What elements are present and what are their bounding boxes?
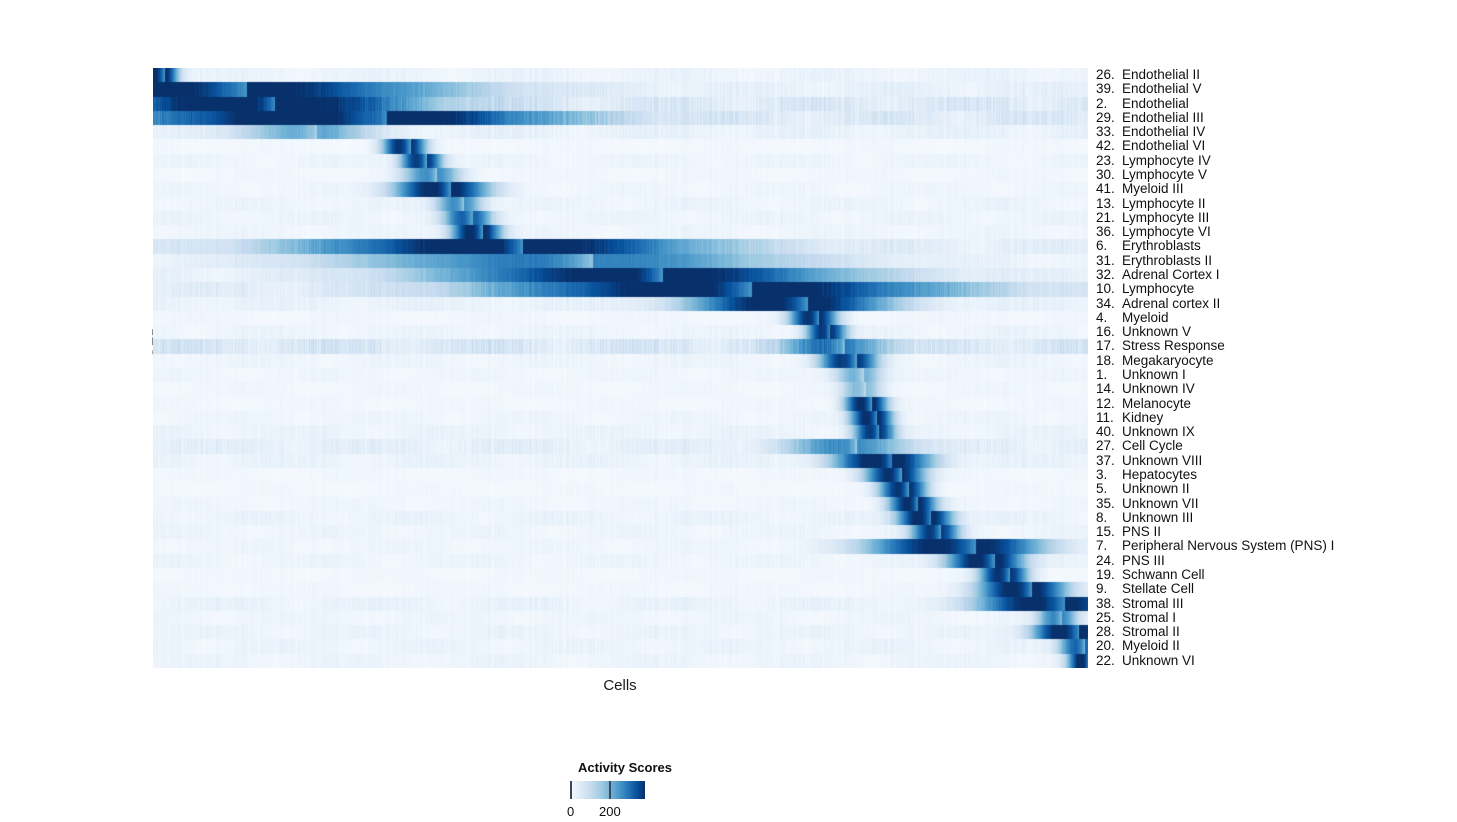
gep-row-label: 36.Lymphocyte VI — [1096, 225, 1211, 239]
gep-row-label: 3.Hepatocytes — [1096, 468, 1197, 482]
gep-row-name: Adrenal Cortex I — [1122, 267, 1220, 282]
gep-row-label: 28.Stromal II — [1096, 625, 1180, 639]
gep-row-name: Endothelial II — [1122, 67, 1200, 82]
gep-row-label: 37.Unknown VIII — [1096, 454, 1202, 468]
gep-row-name: PNS III — [1122, 553, 1165, 568]
gep-row-number: 28. — [1096, 625, 1122, 639]
gep-row-name: Melanocyte — [1122, 396, 1191, 411]
gep-row-name: Stellate Cell — [1122, 581, 1194, 596]
heatmap-figure: GEPs Cells 26.Endothelial II39.Endotheli… — [0, 0, 1457, 815]
gep-row-label: 40.Unknown IX — [1096, 425, 1195, 439]
gep-row-name: PNS II — [1122, 524, 1161, 539]
gep-row-name: Unknown II — [1122, 481, 1190, 496]
gep-row-label: 4.Myeloid — [1096, 311, 1169, 325]
gep-row-name: Unknown IX — [1122, 424, 1195, 439]
gep-row-number: 23. — [1096, 154, 1122, 168]
gep-row-name: Lymphocyte II — [1122, 196, 1206, 211]
heatmap-canvas — [153, 68, 1088, 668]
gep-row-name: Unknown I — [1122, 367, 1186, 382]
gep-row-name: Lymphocyte V — [1122, 167, 1207, 182]
gep-row-number: 35. — [1096, 497, 1122, 511]
gep-row-number: 27. — [1096, 439, 1122, 453]
gep-row-number: 17. — [1096, 339, 1122, 353]
gep-row-name: Myeloid — [1122, 310, 1169, 325]
gep-row-label: 22.Unknown VI — [1096, 654, 1195, 668]
gep-row-number: 29. — [1096, 111, 1122, 125]
gep-row-name: Stromal II — [1122, 624, 1180, 639]
gep-row-number: 12. — [1096, 397, 1122, 411]
gep-row-number: 32. — [1096, 268, 1122, 282]
gep-row-number: 42. — [1096, 139, 1122, 153]
gep-row-name: Myeloid III — [1122, 181, 1184, 196]
gep-row-label: 7.Peripheral Nervous System (PNS) I — [1096, 539, 1334, 553]
gep-row-number: 5. — [1096, 482, 1122, 496]
gep-row-number: 9. — [1096, 582, 1122, 596]
gep-row-name: Lymphocyte IV — [1122, 153, 1211, 168]
gep-row-name: Unknown V — [1122, 324, 1191, 339]
gep-row-label: 38.Stromal III — [1096, 597, 1184, 611]
gep-row-number: 7. — [1096, 539, 1122, 553]
heatmap-plot — [153, 68, 1088, 668]
gep-row-label: 30.Lymphocyte V — [1096, 168, 1207, 182]
gep-row-name: Megakaryocyte — [1122, 353, 1214, 368]
gep-row-name: Unknown VII — [1122, 496, 1199, 511]
gep-row-label: 35.Unknown VII — [1096, 497, 1199, 511]
gep-row-label: 21.Lymphocyte III — [1096, 211, 1209, 225]
colorbar-label-max: 200 — [599, 804, 621, 819]
gep-row-number: 4. — [1096, 311, 1122, 325]
gep-row-number: 14. — [1096, 382, 1122, 396]
colorbar-tick-labels: 0 200 — [480, 804, 770, 822]
colorbar-label-min: 0 — [567, 804, 574, 819]
gep-row-number: 15. — [1096, 525, 1122, 539]
gep-row-label: 14.Unknown IV — [1096, 382, 1195, 396]
gep-row-number: 8. — [1096, 511, 1122, 525]
gep-row-name: Erythroblasts II — [1122, 253, 1212, 268]
gep-row-label: 5.Unknown II — [1096, 482, 1190, 496]
gep-row-number: 2. — [1096, 97, 1122, 111]
gep-row-label: 15.PNS II — [1096, 525, 1161, 539]
gep-row-number: 25. — [1096, 611, 1122, 625]
gep-row-label: 24.PNS III — [1096, 554, 1165, 568]
gep-row-name: Peripheral Nervous System (PNS) I — [1122, 538, 1334, 553]
gep-row-label: 39.Endothelial V — [1096, 82, 1202, 96]
gep-row-name: Myeloid II — [1122, 638, 1180, 653]
colorbar-tick-max — [609, 781, 611, 799]
gep-row-label: 19.Schwann Cell — [1096, 568, 1205, 582]
gep-row-name: Stress Response — [1122, 338, 1225, 353]
gep-row-name: Endothelial — [1122, 96, 1189, 111]
gep-row-label: 2.Endothelial — [1096, 97, 1189, 111]
gep-row-number: 19. — [1096, 568, 1122, 582]
gep-row-name: Lymphocyte — [1122, 281, 1194, 296]
gep-row-name: Lymphocyte III — [1122, 210, 1209, 225]
gep-row-label: 26.Endothelial II — [1096, 68, 1200, 82]
gep-row-label: 27.Cell Cycle — [1096, 439, 1183, 453]
gep-row-number: 24. — [1096, 554, 1122, 568]
gep-row-label: 33.Endothelial IV — [1096, 125, 1205, 139]
gep-row-number: 30. — [1096, 168, 1122, 182]
gep-row-name: Stromal I — [1122, 610, 1176, 625]
gep-row-label: 41.Myeloid III — [1096, 182, 1184, 196]
gep-row-number: 11. — [1096, 411, 1122, 425]
gep-row-name: Erythroblasts — [1122, 238, 1201, 253]
gep-row-name: Endothelial V — [1122, 81, 1202, 96]
gep-row-number: 31. — [1096, 254, 1122, 268]
gep-row-labels: 26.Endothelial II39.Endothelial V2.Endot… — [1096, 68, 1451, 668]
gep-row-number: 39. — [1096, 82, 1122, 96]
gep-row-name: Unknown III — [1122, 510, 1193, 525]
gep-row-label: 17.Stress Response — [1096, 339, 1225, 353]
x-axis-title: Cells — [0, 677, 1240, 694]
gep-row-number: 33. — [1096, 125, 1122, 139]
colorbar-tick-min — [570, 781, 572, 799]
gep-row-label: 18.Megakaryocyte — [1096, 354, 1214, 368]
gep-row-number: 1. — [1096, 368, 1122, 382]
gep-row-number: 20. — [1096, 639, 1122, 653]
gep-row-label: 29.Endothelial III — [1096, 111, 1204, 125]
gep-row-name: Adrenal cortex II — [1122, 296, 1220, 311]
gep-row-label: 42.Endothelial VI — [1096, 139, 1205, 153]
gep-row-number: 18. — [1096, 354, 1122, 368]
gep-row-name: Endothelial IV — [1122, 124, 1205, 139]
gep-row-number: 6. — [1096, 239, 1122, 253]
gep-row-label: 32.Adrenal Cortex I — [1096, 268, 1220, 282]
gep-row-label: 16.Unknown V — [1096, 325, 1191, 339]
gep-row-name: Endothelial III — [1122, 110, 1204, 125]
gep-row-label: 12.Melanocyte — [1096, 397, 1191, 411]
gep-row-label: 9.Stellate Cell — [1096, 582, 1194, 596]
gep-row-number: 13. — [1096, 197, 1122, 211]
gep-row-label: 1.Unknown I — [1096, 368, 1186, 382]
gep-row-number: 3. — [1096, 468, 1122, 482]
gep-row-label: 20.Myeloid II — [1096, 639, 1180, 653]
gep-row-label: 13.Lymphocyte II — [1096, 197, 1206, 211]
gep-row-name: Cell Cycle — [1122, 438, 1183, 453]
gep-row-name: Schwann Cell — [1122, 567, 1205, 582]
gep-row-number: 36. — [1096, 225, 1122, 239]
gep-row-name: Unknown VI — [1122, 653, 1195, 668]
gep-row-name: Unknown IV — [1122, 381, 1195, 396]
gep-row-number: 38. — [1096, 597, 1122, 611]
gep-row-number: 37. — [1096, 454, 1122, 468]
gep-row-label: 10.Lymphocyte — [1096, 282, 1194, 296]
gep-row-label: 23.Lymphocyte IV — [1096, 154, 1211, 168]
gep-row-name: Unknown VIII — [1122, 453, 1202, 468]
gep-row-label: 34.Adrenal cortex II — [1096, 297, 1220, 311]
gep-row-label: 25.Stromal I — [1096, 611, 1176, 625]
gep-row-label: 11.Kidney — [1096, 411, 1163, 425]
gep-row-number: 16. — [1096, 325, 1122, 339]
gep-row-number: 26. — [1096, 68, 1122, 82]
gep-row-number: 22. — [1096, 654, 1122, 668]
colorbar-bar-wrap — [480, 781, 770, 801]
gep-row-name: Kidney — [1122, 410, 1163, 425]
colorbar-title: Activity Scores — [480, 760, 770, 775]
gep-row-number: 34. — [1096, 297, 1122, 311]
gep-row-name: Lymphocyte VI — [1122, 224, 1211, 239]
gep-row-label: 8.Unknown III — [1096, 511, 1193, 525]
gep-row-number: 10. — [1096, 282, 1122, 296]
colorbar-legend: Activity Scores 0 200 — [480, 760, 770, 822]
gep-row-number: 21. — [1096, 211, 1122, 225]
gep-row-name: Stromal III — [1122, 596, 1184, 611]
gep-row-label: 6.Erythroblasts — [1096, 239, 1201, 253]
gep-row-number: 40. — [1096, 425, 1122, 439]
gep-row-number: 41. — [1096, 182, 1122, 196]
gep-row-name: Hepatocytes — [1122, 467, 1197, 482]
gep-row-label: 31.Erythroblasts II — [1096, 254, 1212, 268]
gep-row-name: Endothelial VI — [1122, 138, 1205, 153]
colorbar-gradient — [570, 781, 645, 799]
